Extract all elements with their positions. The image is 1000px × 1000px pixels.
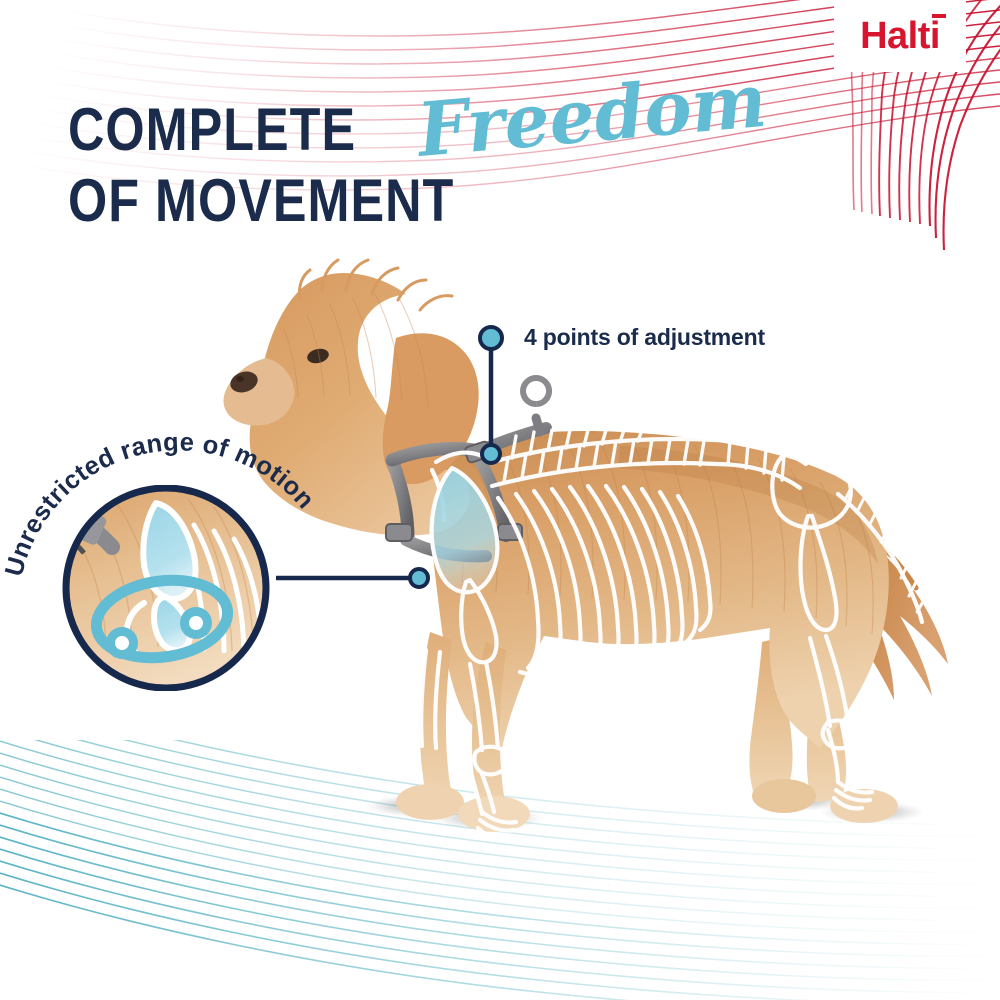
marker-dot-harness: [480, 443, 502, 465]
logo-t-crossbar-icon: [932, 14, 946, 18]
page-title: COMPLETE Freedom OF MOVEMENT: [68, 92, 785, 231]
callout-adjustment: 4 points of adjustment: [478, 324, 765, 351]
brand-logo: Halti: [834, 0, 966, 72]
headline-of-movement: OF MOVEMENT: [68, 172, 454, 231]
brand-logo-text: Halti: [860, 17, 940, 55]
callout-adjustment-label: 4 points of adjustment: [524, 324, 765, 351]
magnifier-callout: [48, 485, 284, 691]
marker-dot: [408, 567, 430, 589]
headline-line-1: COMPLETE Freedom: [68, 92, 785, 160]
marker-dot-shoulder: [408, 567, 430, 589]
headline-complete: COMPLETE: [68, 101, 356, 160]
adjustment-dot-icon: [478, 325, 504, 351]
headline-line-2: OF MOVEMENT: [68, 172, 785, 231]
poster-canvas: Unrestricted range of motion 4 points of…: [0, 0, 1000, 1000]
marker-dot: [480, 443, 502, 465]
